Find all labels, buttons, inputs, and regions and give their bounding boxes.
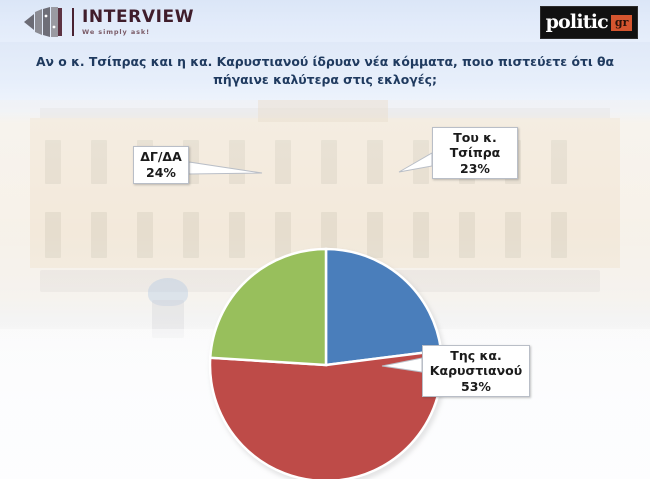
callout-karystianou-value: 53% — [461, 379, 491, 395]
background-photo — [0, 100, 650, 479]
callout-karystianou-line1: Της κα. — [450, 348, 501, 364]
pie-slice-dgda[interactable] — [210, 249, 326, 365]
logo-divider — [72, 8, 74, 36]
header-bar: INTERVIEW We simply ask! politic gr — [0, 0, 650, 42]
callout-dgda-line1: ΔΓ/ΔΑ — [140, 149, 182, 165]
pie-slice-karystianou[interactable] — [210, 350, 442, 479]
pie-svg — [208, 247, 444, 479]
callout-dgda-value: 24% — [146, 165, 176, 181]
question-text: Αν ο κ. Τσίπρας και η κα. Καρυστιανού ίδ… — [34, 53, 616, 89]
poll-infographic: INTERVIEW We simply ask! politic gr Αν ο… — [0, 0, 650, 479]
politic-gr-logo[interactable]: politic gr — [540, 6, 638, 39]
callout-tsipras-line1: Του κ. — [453, 130, 497, 146]
callout-karystianou-line2: Καρυστιανού — [430, 363, 522, 379]
pie-chart — [208, 247, 444, 479]
politic-wordmark: politic — [546, 13, 608, 32]
interview-mark-icon — [22, 7, 66, 37]
question-banner: Αν ο κ. Τσίπρας και η κα. Καρυστιανού ίδ… — [0, 42, 650, 100]
callout-tsipras[interactable]: Του κ. Τσίπρα 23% — [432, 127, 518, 179]
callout-tsipras-line2: Τσίπρα — [450, 145, 501, 161]
callout-karystianou[interactable]: Της κα. Καρυστιανού 53% — [422, 345, 530, 397]
interview-logo: INTERVIEW We simply ask! — [22, 6, 194, 38]
callout-tsipras-value: 23% — [460, 161, 490, 177]
brand-tagline: We simply ask! — [82, 29, 194, 36]
interview-wordmark: INTERVIEW We simply ask! — [82, 9, 194, 36]
callout-dgda[interactable]: ΔΓ/ΔΑ 24% — [133, 146, 189, 184]
brand-name: INTERVIEW — [82, 9, 194, 26]
politic-tld-badge: gr — [611, 15, 633, 31]
